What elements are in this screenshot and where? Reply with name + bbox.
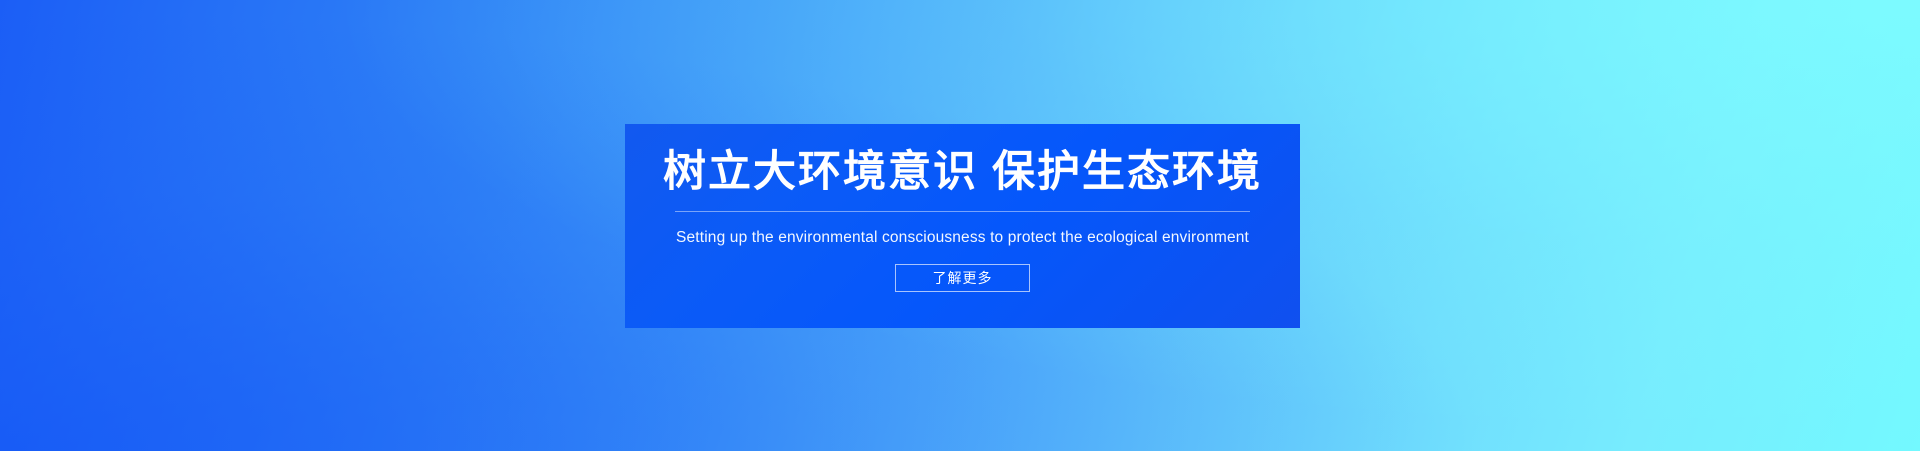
hero-banner: 树立大环境意识 保护生态环境 Setting up the environmen… bbox=[0, 0, 1920, 451]
title-divider bbox=[675, 211, 1250, 212]
learn-more-button[interactable]: 了解更多 bbox=[895, 264, 1030, 292]
banner-title: 树立大环境意识 保护生态环境 bbox=[663, 148, 1262, 197]
banner-content-card: 树立大环境意识 保护生态环境 Setting up the environmen… bbox=[625, 124, 1300, 328]
banner-subtitle: Setting up the environmental consciousne… bbox=[676, 229, 1249, 247]
